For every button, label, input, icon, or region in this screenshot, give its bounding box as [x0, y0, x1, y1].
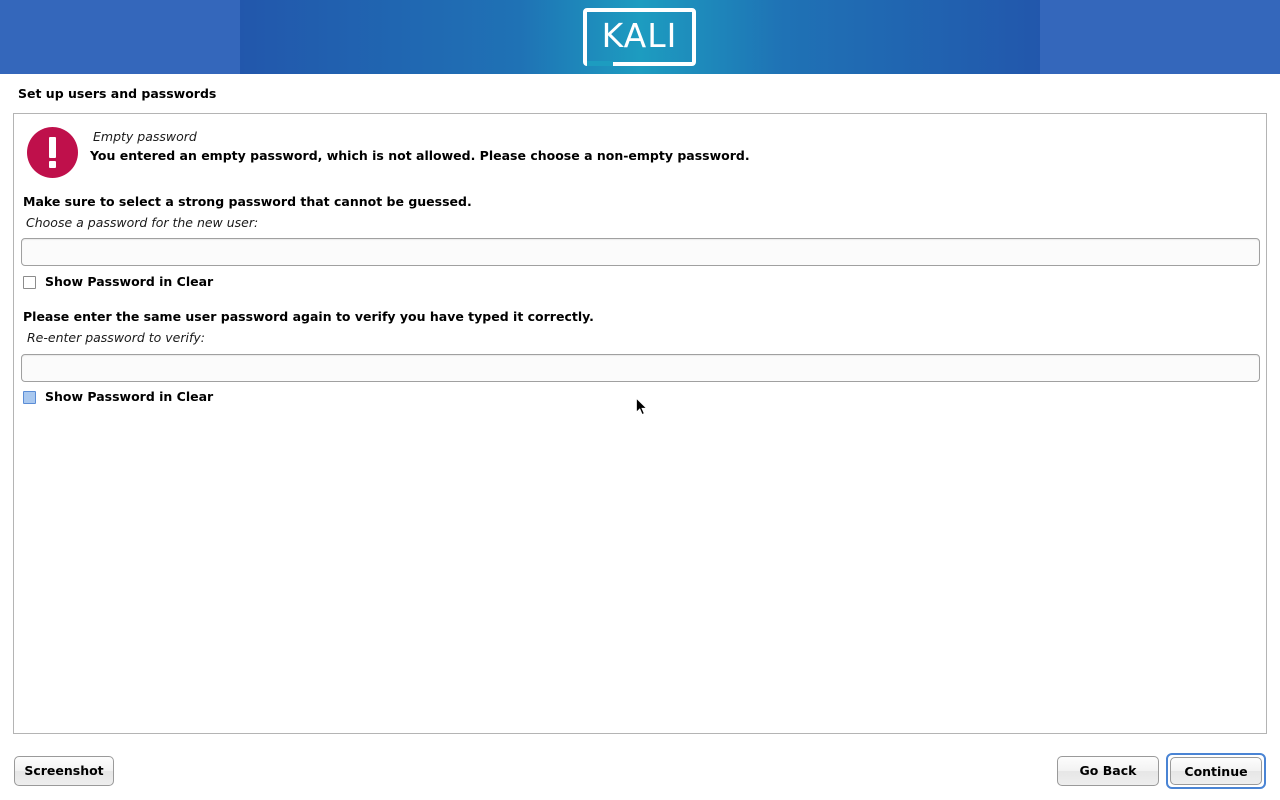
verify-password-note: Please enter the same user password agai…: [23, 309, 594, 324]
verify-field-label: Re-enter password to verify:: [27, 330, 205, 345]
go-back-button[interactable]: Go Back: [1057, 756, 1159, 786]
show-password-checkbox-1[interactable]: [23, 276, 36, 289]
content-panel: Empty password You entered an empty pass…: [13, 113, 1267, 734]
exclamation-stem: [49, 137, 56, 158]
continue-button-focus-ring: Continue: [1166, 753, 1266, 789]
kali-logo: KALI: [583, 8, 696, 66]
password-input[interactable]: [21, 238, 1260, 266]
password-field-label: Choose a password for the new user:: [26, 215, 258, 230]
show-password-label-1: Show Password in Clear: [45, 274, 213, 289]
error-title: Empty password: [93, 129, 197, 144]
strong-password-note: Make sure to select a strong password th…: [23, 194, 472, 209]
page-title: Set up users and passwords: [18, 86, 216, 101]
installer-banner: KALI: [0, 0, 1280, 74]
error-message: You entered an empty password, which is …: [90, 148, 750, 163]
title-divider: [0, 110, 1280, 111]
error-exclamation-icon: [27, 127, 78, 178]
show-password-checkbox-2[interactable]: [23, 391, 36, 404]
show-password-label-2: Show Password in Clear: [45, 389, 213, 404]
screenshot-button[interactable]: Screenshot: [14, 756, 114, 786]
exclamation-dot: [49, 161, 56, 168]
verify-password-input[interactable]: [21, 354, 1260, 382]
kali-logo-text: KALI: [583, 8, 696, 66]
continue-button[interactable]: Continue: [1170, 757, 1262, 785]
